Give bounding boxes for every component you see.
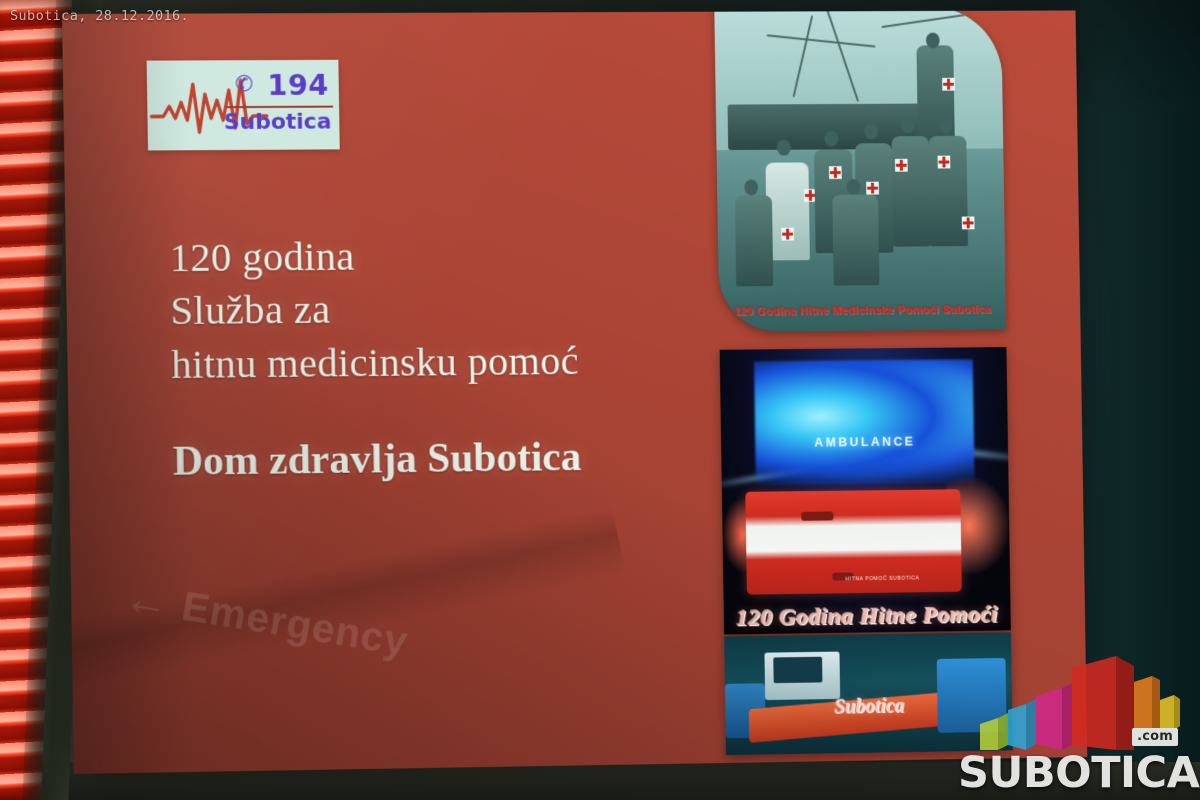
medic-head xyxy=(744,179,758,195)
ambulance-photo-canvas: AMBULANCE HITNA POMOĆ SUBOTICA 120 Godin… xyxy=(720,347,1011,634)
logo-text-block: ✆ 194 Subotica xyxy=(223,66,333,146)
medic-head xyxy=(939,117,953,133)
watermark-tld-badge: .com xyxy=(1132,728,1178,746)
ambulance-rear-door: HITNA POMOĆ SUBOTICA xyxy=(745,489,962,594)
standing-medic xyxy=(892,136,931,246)
logo-number: 194 xyxy=(267,68,329,102)
watermark-brand: SUBOTICA xyxy=(958,748,1194,798)
red-cross-armband-icon xyxy=(829,166,842,179)
presentation-slide: ← Emergency ✆ 194 Subotica 120 godina Sl… xyxy=(62,10,1087,773)
subotica-com-watermark: .com SUBOTICA xyxy=(958,648,1194,798)
seated-medic xyxy=(832,195,879,286)
medic-head xyxy=(777,140,791,156)
blue-emergency-lights xyxy=(754,359,974,486)
projection-screen: ← Emergency ✆ 194 Subotica 120 godina Sl… xyxy=(62,10,1087,773)
seated-medic xyxy=(735,195,774,286)
medic-head xyxy=(926,33,940,49)
projector-shadow-band xyxy=(62,507,626,705)
red-cross-armband-icon xyxy=(781,228,794,241)
emergency-sign-watermark: ← Emergency xyxy=(115,537,554,723)
emergency-label: Emergency xyxy=(179,582,412,665)
logo-city: Subotica xyxy=(224,110,332,135)
red-cross-armband-icon xyxy=(942,78,955,91)
logo-divider xyxy=(226,106,333,109)
historic-photo-caption: 120 Godina Hitne Medicinske Pomoći Subot… xyxy=(719,304,1006,318)
historic-photo-canvas: 120 Godina Hitne Medicinske Pomoći Subot… xyxy=(714,10,1006,332)
phone-icon: ✆ xyxy=(235,72,254,97)
red-cross-armband-icon xyxy=(938,155,951,168)
monitor-screen xyxy=(773,656,822,683)
timestamp-overlay: Subotica, 28.12.2016. xyxy=(10,8,189,24)
medic-head xyxy=(901,117,915,133)
red-cross-armband-icon xyxy=(895,159,908,172)
ambulance-night-photo: AMBULANCE HITNA POMOĆ SUBOTICA 120 Godin… xyxy=(720,347,1011,634)
historic-medics-photo: 120 Godina Hitne Medicinske Pomoći Subot… xyxy=(714,10,1006,332)
service-logo: ✆ 194 Subotica xyxy=(147,60,340,151)
red-cross-armband-icon xyxy=(867,182,880,195)
medic-head xyxy=(864,124,878,140)
medic-head xyxy=(824,130,838,146)
medic-head xyxy=(846,179,860,195)
ambulance-service-text: HITNA POMOĆ SUBOTICA xyxy=(845,575,961,582)
ambulance-photo-caption: 120 Godina Hitne Pomoći xyxy=(720,602,1011,633)
door-handle xyxy=(801,511,833,521)
red-cross-armband-icon xyxy=(962,217,975,230)
photo-of-projected-presentation: ← Emergency ✆ 194 Subotica 120 godina Sl… xyxy=(0,0,1200,800)
left-arrow-icon: ← xyxy=(121,573,175,626)
